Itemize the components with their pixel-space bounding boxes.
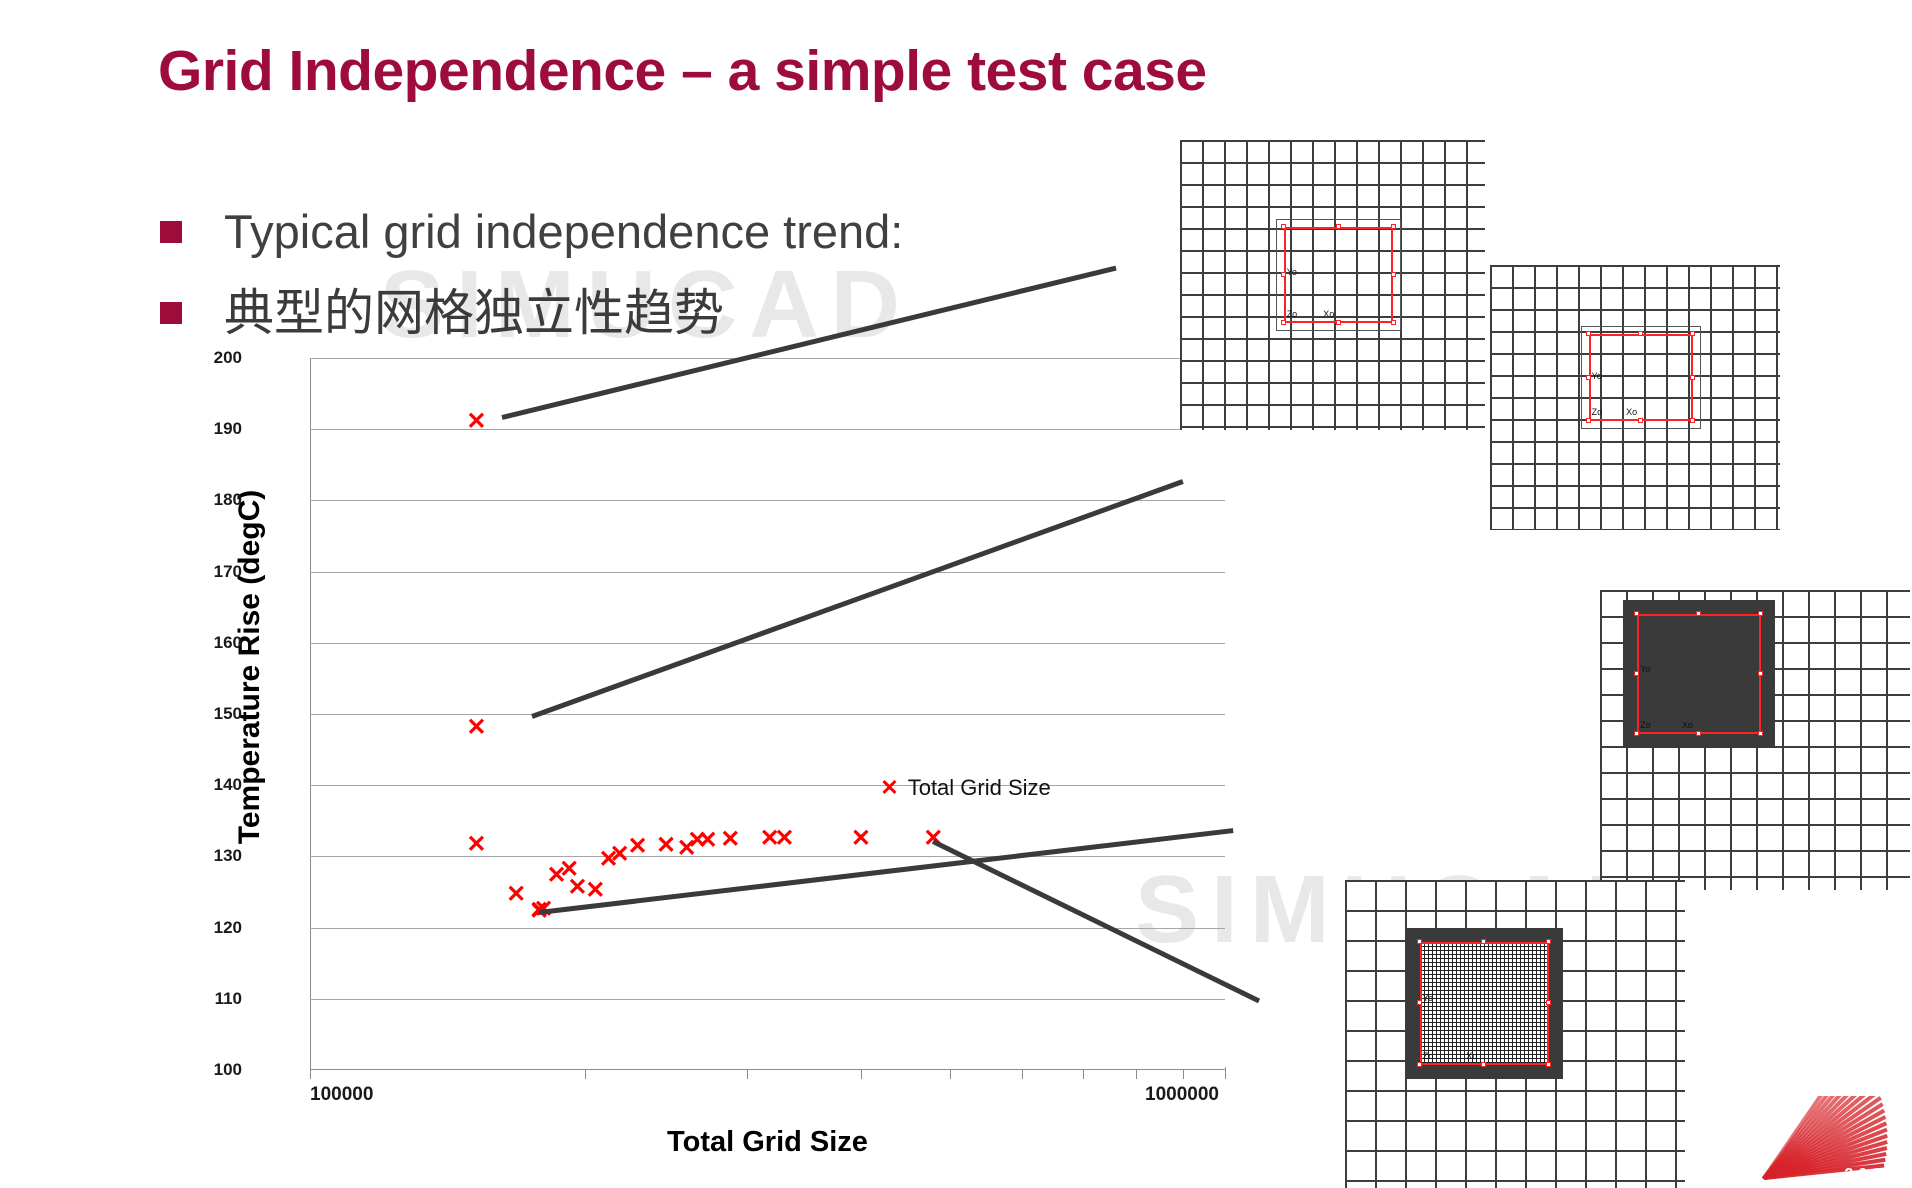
mesh-handle[interactable] bbox=[1758, 731, 1763, 736]
mesh-gridline-v bbox=[1834, 590, 1836, 890]
mesh-gridline-v bbox=[1578, 265, 1580, 530]
bullet-label-1: Typical grid independence trend: bbox=[224, 208, 903, 255]
gridline-y bbox=[310, 500, 1225, 501]
y-tick-label: 130 bbox=[190, 846, 242, 866]
mesh-handle[interactable] bbox=[1336, 320, 1341, 325]
mesh-axis-label-xo: Xo bbox=[1682, 720, 1693, 730]
logo-year: 2020 bbox=[1844, 1166, 1900, 1184]
mesh-gridline-h bbox=[1600, 772, 1910, 774]
data-point-marker: ✕ bbox=[698, 829, 718, 853]
mesh-handle[interactable] bbox=[1586, 375, 1591, 380]
mesh-handle[interactable] bbox=[1391, 320, 1396, 325]
gridline-y bbox=[310, 572, 1225, 573]
bullet-label-2: 典型的网格独立性趋势 bbox=[224, 288, 724, 338]
slide-canvas: SIMUCAD SIMUCAD Grid Independence – a si… bbox=[0, 0, 1912, 1188]
y-tick-label: 140 bbox=[190, 775, 242, 795]
mesh-gridline-v bbox=[1490, 265, 1492, 530]
grid-independence-chart: ✕✕✕✕✕✕✕✕✕✕✕✕✕✕✕✕✕✕✕✕✕✕✕ Temperature Rise… bbox=[250, 350, 1310, 960]
y-tick-label: 190 bbox=[190, 419, 242, 439]
mesh-gridline-v bbox=[1615, 880, 1617, 1188]
mesh-domain-box bbox=[1637, 614, 1761, 734]
mesh-gridline-v bbox=[1345, 880, 1347, 1188]
mesh-gridline-v bbox=[1782, 590, 1784, 890]
mesh-handle[interactable] bbox=[1481, 939, 1486, 944]
square-bullet-icon bbox=[160, 302, 182, 324]
mesh-handle[interactable] bbox=[1546, 1000, 1551, 1005]
mesh-gridline-h bbox=[1345, 880, 1685, 882]
x-axis-line bbox=[310, 1069, 1225, 1071]
mesh-axis-label-xo: Xo bbox=[1323, 309, 1334, 319]
plot-area: ✕✕✕✕✕✕✕✕✕✕✕✕✕✕✕✕✕✕✕✕✕✕✕ bbox=[310, 358, 1225, 1070]
square-bullet-icon bbox=[160, 221, 182, 243]
mesh-handle[interactable] bbox=[1546, 939, 1551, 944]
mesh-gridline-h bbox=[1345, 1150, 1685, 1152]
x-major-tick bbox=[1225, 1067, 1226, 1079]
gridline-y bbox=[310, 999, 1225, 1000]
mesh-gridline-h bbox=[1180, 184, 1485, 186]
data-point-marker: ✕ bbox=[466, 410, 486, 434]
mesh-gridline-v bbox=[1886, 590, 1888, 890]
gridline-y bbox=[310, 714, 1225, 715]
mesh-gridline-v bbox=[1466, 140, 1468, 430]
mesh-handle[interactable] bbox=[1758, 611, 1763, 616]
x-minor-tick bbox=[950, 1070, 951, 1079]
mesh-handle[interactable] bbox=[1417, 1000, 1422, 1005]
mesh-handle[interactable] bbox=[1281, 224, 1286, 229]
mesh-handle[interactable] bbox=[1690, 418, 1695, 423]
data-point-marker: ✕ bbox=[627, 835, 647, 859]
x-major-tick bbox=[310, 1067, 311, 1079]
x-minor-tick bbox=[1022, 1070, 1023, 1079]
mesh-gridline-v bbox=[1860, 590, 1862, 890]
mesh-gridline-h bbox=[1600, 590, 1910, 592]
mesh-handle[interactable] bbox=[1281, 272, 1286, 277]
mesh-gridline-h bbox=[1180, 360, 1485, 362]
mesh-axis-label-zo: Zo bbox=[1640, 720, 1651, 730]
data-point-marker: ✕ bbox=[720, 828, 740, 852]
mesh-domain-box bbox=[1284, 227, 1394, 323]
brand-logo: 2020 bbox=[1747, 1096, 1912, 1188]
gridline-y bbox=[310, 429, 1225, 430]
mesh-handle[interactable] bbox=[1281, 320, 1286, 325]
mesh-gridline-v bbox=[1808, 590, 1810, 890]
mesh-axis-label-yo: Yo bbox=[1640, 664, 1650, 674]
mesh-thumbnail-coarse-2[interactable]: YoZoXo bbox=[1490, 265, 1780, 530]
mesh-gridline-h bbox=[1180, 338, 1485, 340]
mesh-handle[interactable] bbox=[1634, 671, 1639, 676]
data-point-marker: ✕ bbox=[466, 833, 486, 857]
x-tick-label: 100000 bbox=[310, 1084, 373, 1106]
x-minor-tick bbox=[1136, 1070, 1137, 1079]
y-tick-label: 170 bbox=[190, 562, 242, 582]
mesh-handle[interactable] bbox=[1336, 224, 1341, 229]
mesh-handle[interactable] bbox=[1634, 611, 1639, 616]
mesh-handle[interactable] bbox=[1586, 331, 1591, 336]
data-point-marker: ✕ bbox=[774, 827, 794, 851]
mesh-gridline-v bbox=[1600, 590, 1602, 890]
y-tick-label: 120 bbox=[190, 918, 242, 938]
mesh-gridline-v bbox=[1180, 140, 1182, 430]
mesh-gridline-v bbox=[1512, 265, 1514, 530]
mesh-gridline-h bbox=[1345, 910, 1685, 912]
x-minor-tick bbox=[747, 1070, 748, 1079]
y-tick-label: 150 bbox=[190, 704, 242, 724]
x-minor-tick bbox=[585, 1070, 586, 1079]
mesh-handle[interactable] bbox=[1417, 1062, 1422, 1067]
mesh-handle[interactable] bbox=[1586, 418, 1591, 423]
x-minor-tick bbox=[861, 1070, 862, 1079]
data-point-marker: ✕ bbox=[851, 827, 871, 851]
mesh-handle[interactable] bbox=[1481, 1062, 1486, 1067]
mesh-gridline-h bbox=[1600, 850, 1910, 852]
mesh-handle[interactable] bbox=[1696, 611, 1701, 616]
mesh-gridline-h bbox=[1180, 140, 1485, 142]
mesh-handle[interactable] bbox=[1690, 331, 1695, 336]
mesh-handle[interactable] bbox=[1758, 671, 1763, 676]
x-axis-title: Total Grid Size bbox=[310, 1126, 1225, 1159]
mesh-gridline-v bbox=[1224, 140, 1226, 430]
gridline-y bbox=[310, 643, 1225, 644]
mesh-gridline-h bbox=[1180, 404, 1485, 406]
mesh-gridline-v bbox=[1556, 265, 1558, 530]
gridline-y bbox=[310, 856, 1225, 857]
mesh-handle[interactable] bbox=[1696, 731, 1701, 736]
mesh-gridline-v bbox=[1675, 880, 1677, 1188]
mesh-handle[interactable] bbox=[1391, 224, 1396, 229]
y-tick-label: 160 bbox=[190, 633, 242, 653]
y-tick-label: 180 bbox=[190, 490, 242, 510]
mesh-axis-label-yo: Yo bbox=[1423, 993, 1433, 1003]
mesh-axis-label-yo: Yo bbox=[1287, 267, 1297, 277]
y-tick-label: 200 bbox=[190, 348, 242, 368]
data-point-marker: ✕ bbox=[585, 879, 605, 903]
mesh-gridline-h bbox=[1345, 1090, 1685, 1092]
mesh-gridline-v bbox=[1710, 265, 1712, 530]
bullet-item-2: 典型的网格独立性趋势 bbox=[160, 288, 724, 338]
mesh-handle[interactable] bbox=[1634, 731, 1639, 736]
mesh-gridline-v bbox=[1375, 880, 1377, 1188]
mesh-gridline-h bbox=[1345, 1120, 1685, 1122]
data-point-marker: ✕ bbox=[506, 883, 526, 907]
mesh-gridline-h bbox=[1345, 1180, 1685, 1182]
mesh-axis-label-zo: Zo bbox=[1423, 1051, 1434, 1061]
mesh-gridline-h bbox=[1600, 876, 1910, 878]
gridline-y bbox=[310, 358, 1225, 359]
y-tick-label: 110 bbox=[190, 989, 242, 1009]
mesh-gridline-h bbox=[1600, 798, 1910, 800]
mesh-handle[interactable] bbox=[1391, 272, 1396, 277]
data-point-marker: ✕ bbox=[656, 834, 676, 858]
mesh-gridline-h bbox=[1180, 162, 1485, 164]
mesh-gridline-v bbox=[1268, 140, 1270, 430]
mesh-gridline-h bbox=[1600, 824, 1910, 826]
mesh-gridline-h bbox=[1180, 382, 1485, 384]
gridline-y bbox=[310, 785, 1225, 786]
mesh-gridline-h bbox=[1180, 426, 1485, 428]
mesh-handle[interactable] bbox=[1638, 331, 1643, 336]
legend-marker-x-icon: ✕ bbox=[880, 775, 898, 801]
mesh-gridline-v bbox=[1246, 140, 1248, 430]
mesh-handle[interactable] bbox=[1690, 375, 1695, 380]
mesh-gridline-v bbox=[1776, 265, 1778, 530]
data-point-marker: ✕ bbox=[466, 716, 486, 740]
y-tick-label: 100 bbox=[190, 1060, 242, 1080]
mesh-gridline-v bbox=[1202, 140, 1204, 430]
mesh-thumbnail-medium[interactable]: YoZoXo bbox=[1600, 590, 1910, 890]
chart-legend: ✕ Total Grid Size bbox=[880, 775, 1051, 801]
mesh-gridline-v bbox=[1645, 880, 1647, 1188]
page-title: Grid Independence – a simple test case bbox=[158, 38, 1207, 104]
mesh-gridline-v bbox=[1585, 880, 1587, 1188]
mesh-axis-label-xo: Xo bbox=[1466, 1051, 1477, 1061]
mesh-handle[interactable] bbox=[1546, 1062, 1551, 1067]
mesh-axis-label-zo: Zo bbox=[1592, 407, 1603, 417]
bullet-item-1: Typical grid independence trend: bbox=[160, 208, 903, 255]
mesh-domain-box bbox=[1420, 942, 1549, 1065]
mesh-gridline-v bbox=[1754, 265, 1756, 530]
gridline-y bbox=[310, 928, 1225, 929]
mesh-gridline-v bbox=[1732, 265, 1734, 530]
mesh-gridline-v bbox=[1444, 140, 1446, 430]
mesh-gridline-v bbox=[1534, 265, 1536, 530]
mesh-axis-label-yo: Yo bbox=[1592, 371, 1602, 381]
mesh-thumbnail-coarse-1[interactable]: YoZoXo bbox=[1180, 140, 1485, 430]
mesh-handle[interactable] bbox=[1417, 939, 1422, 944]
mesh-axis-label-xo: Xo bbox=[1626, 407, 1637, 417]
mesh-axis-label-zo: Zo bbox=[1287, 309, 1298, 319]
mesh-gridline-v bbox=[1422, 140, 1424, 430]
x-tick-label: 1000000 bbox=[1145, 1084, 1219, 1106]
mesh-handle[interactable] bbox=[1638, 418, 1643, 423]
x-minor-tick bbox=[1083, 1070, 1084, 1079]
mesh-gridline-h bbox=[1180, 206, 1485, 208]
legend-label: Total Grid Size bbox=[908, 775, 1051, 801]
x-minor-tick bbox=[1183, 1070, 1184, 1079]
mesh-domain-box bbox=[1589, 334, 1693, 421]
mesh-thumbnail-fine[interactable]: YoZoXo bbox=[1345, 880, 1685, 1188]
